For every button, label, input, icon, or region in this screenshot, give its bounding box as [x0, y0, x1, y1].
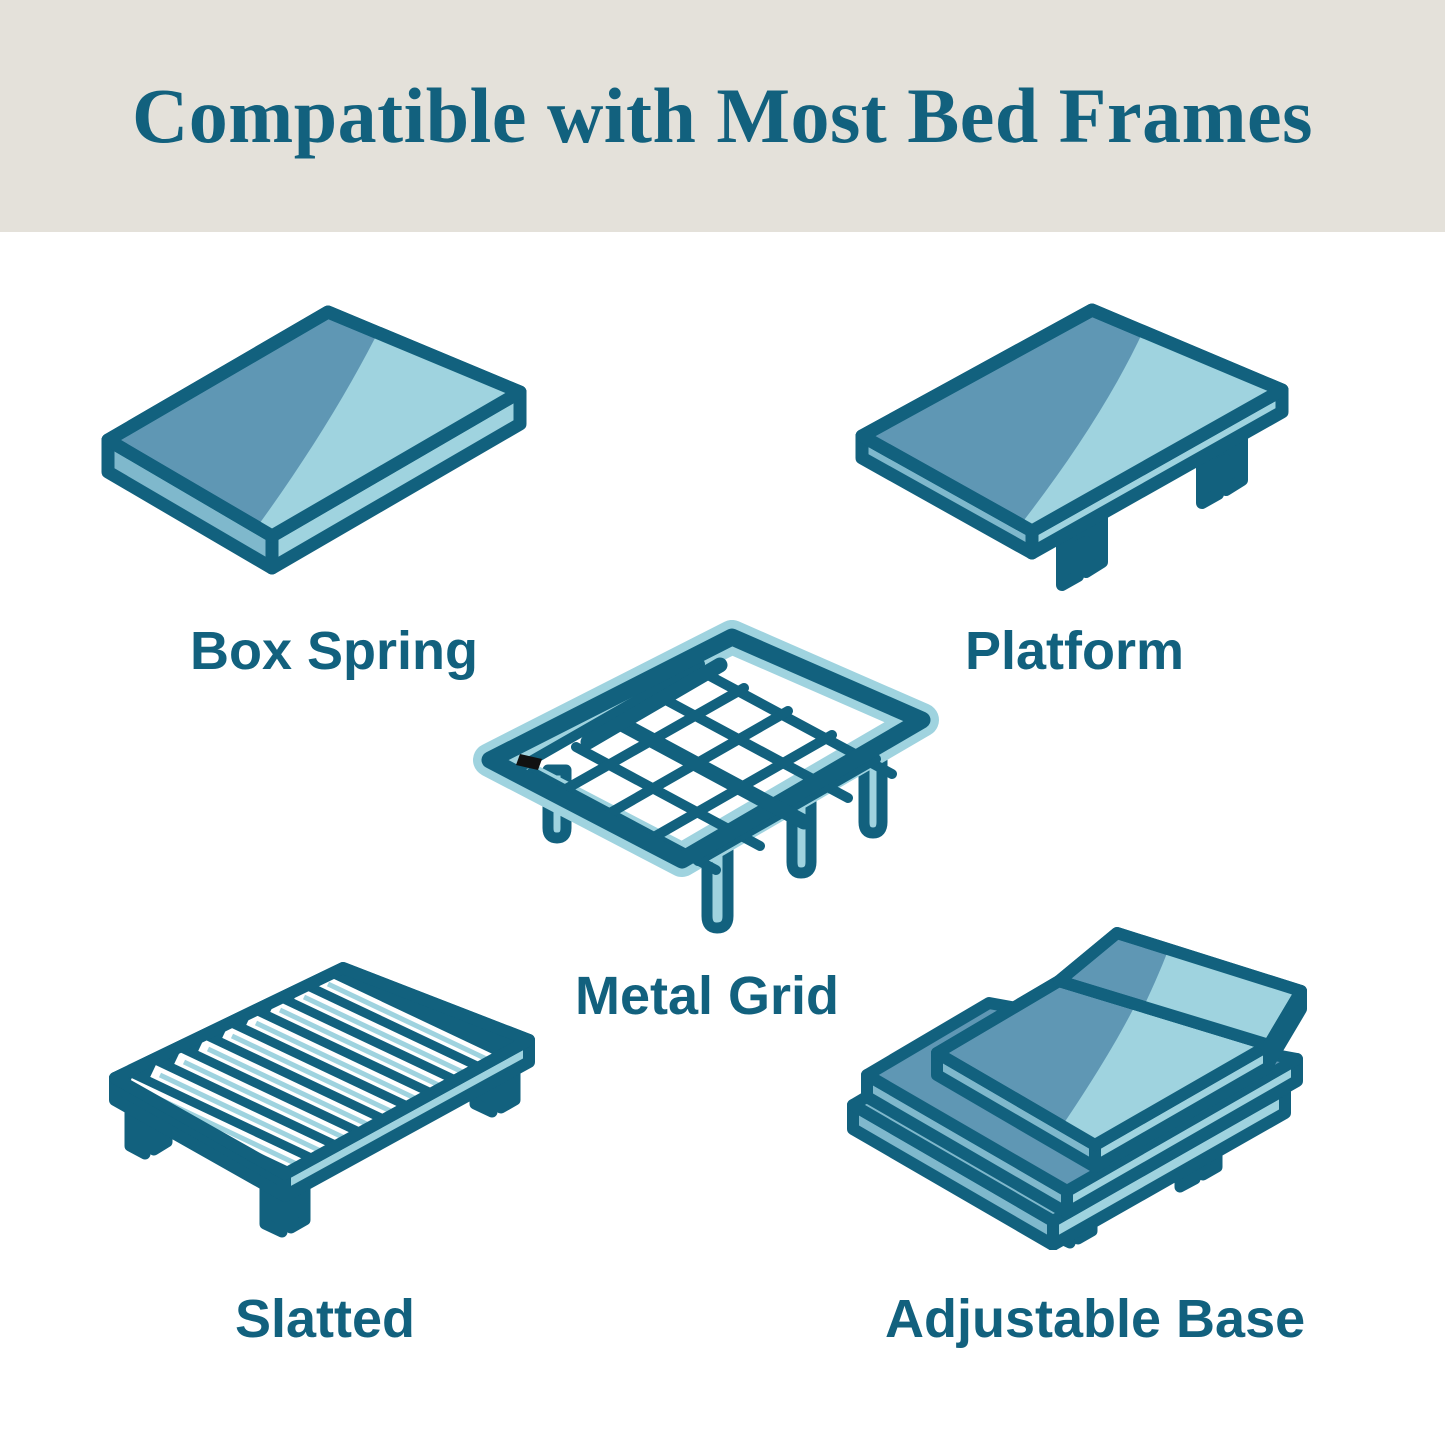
metal-grid-isometric-icon — [470, 620, 940, 940]
platform-illustration — [850, 300, 1320, 600]
adjustable-base-isometric-icon — [845, 925, 1325, 1250]
label-metal-grid: Metal Grid — [575, 965, 839, 1027]
box-spring-isometric-icon — [100, 300, 560, 600]
label-platform: Platform — [965, 620, 1184, 682]
slatted-isometric-icon — [105, 960, 555, 1250]
label-box-spring: Box Spring — [190, 620, 478, 682]
metal-grid-illustration — [470, 620, 940, 940]
page-title: Compatible with Most Bed Frames — [0, 0, 1445, 232]
label-adjustable-base: Adjustable Base — [885, 1288, 1305, 1350]
infographic-page: Compatible with Most Bed Frames Box Spri… — [0, 0, 1445, 1445]
platform-isometric-icon — [850, 300, 1320, 600]
label-slatted: Slatted — [235, 1288, 415, 1350]
slatted-illustration — [105, 960, 555, 1250]
box-spring-illustration — [100, 300, 560, 600]
adjustable-base-illustration — [845, 925, 1325, 1250]
